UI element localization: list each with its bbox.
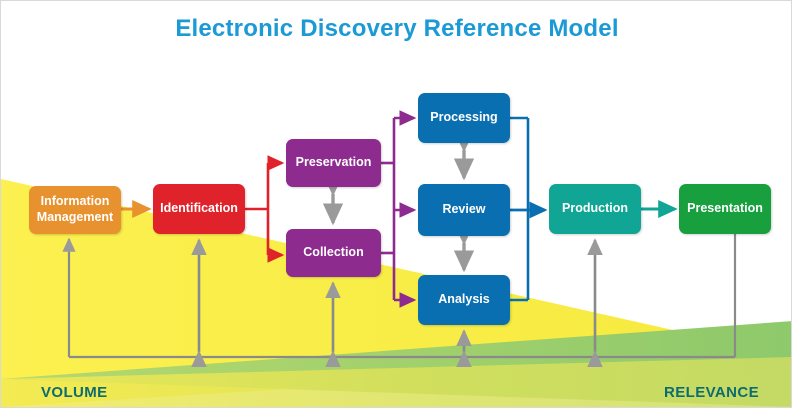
axis-label-relevance: RELEVANCE — [664, 384, 759, 401]
flow-preservation-collection-to-processing-review-analysis — [381, 118, 414, 300]
flow-processing-review-analysis-to-production — [510, 118, 545, 300]
page-title: Electronic Discovery Reference Model — [1, 15, 792, 43]
node-preservation[interactable]: Preservation — [286, 139, 381, 187]
feedback-bus — [69, 234, 735, 357]
node-review[interactable]: Review — [418, 184, 510, 236]
edrm-diagram: Electronic Discovery Reference Model Inf… — [0, 0, 792, 408]
node-collection[interactable]: Collection — [286, 229, 381, 277]
node-identification[interactable]: Identification — [153, 184, 245, 234]
axis-label-volume: VOLUME — [41, 384, 108, 401]
node-analysis[interactable]: Analysis — [418, 275, 510, 325]
node-information-management[interactable]: Information Management — [29, 186, 121, 234]
flow-identification-to-preservation-collection — [245, 163, 282, 255]
node-processing[interactable]: Processing — [418, 93, 510, 143]
node-presentation[interactable]: Presentation — [679, 184, 771, 234]
node-production[interactable]: Production — [549, 184, 641, 234]
